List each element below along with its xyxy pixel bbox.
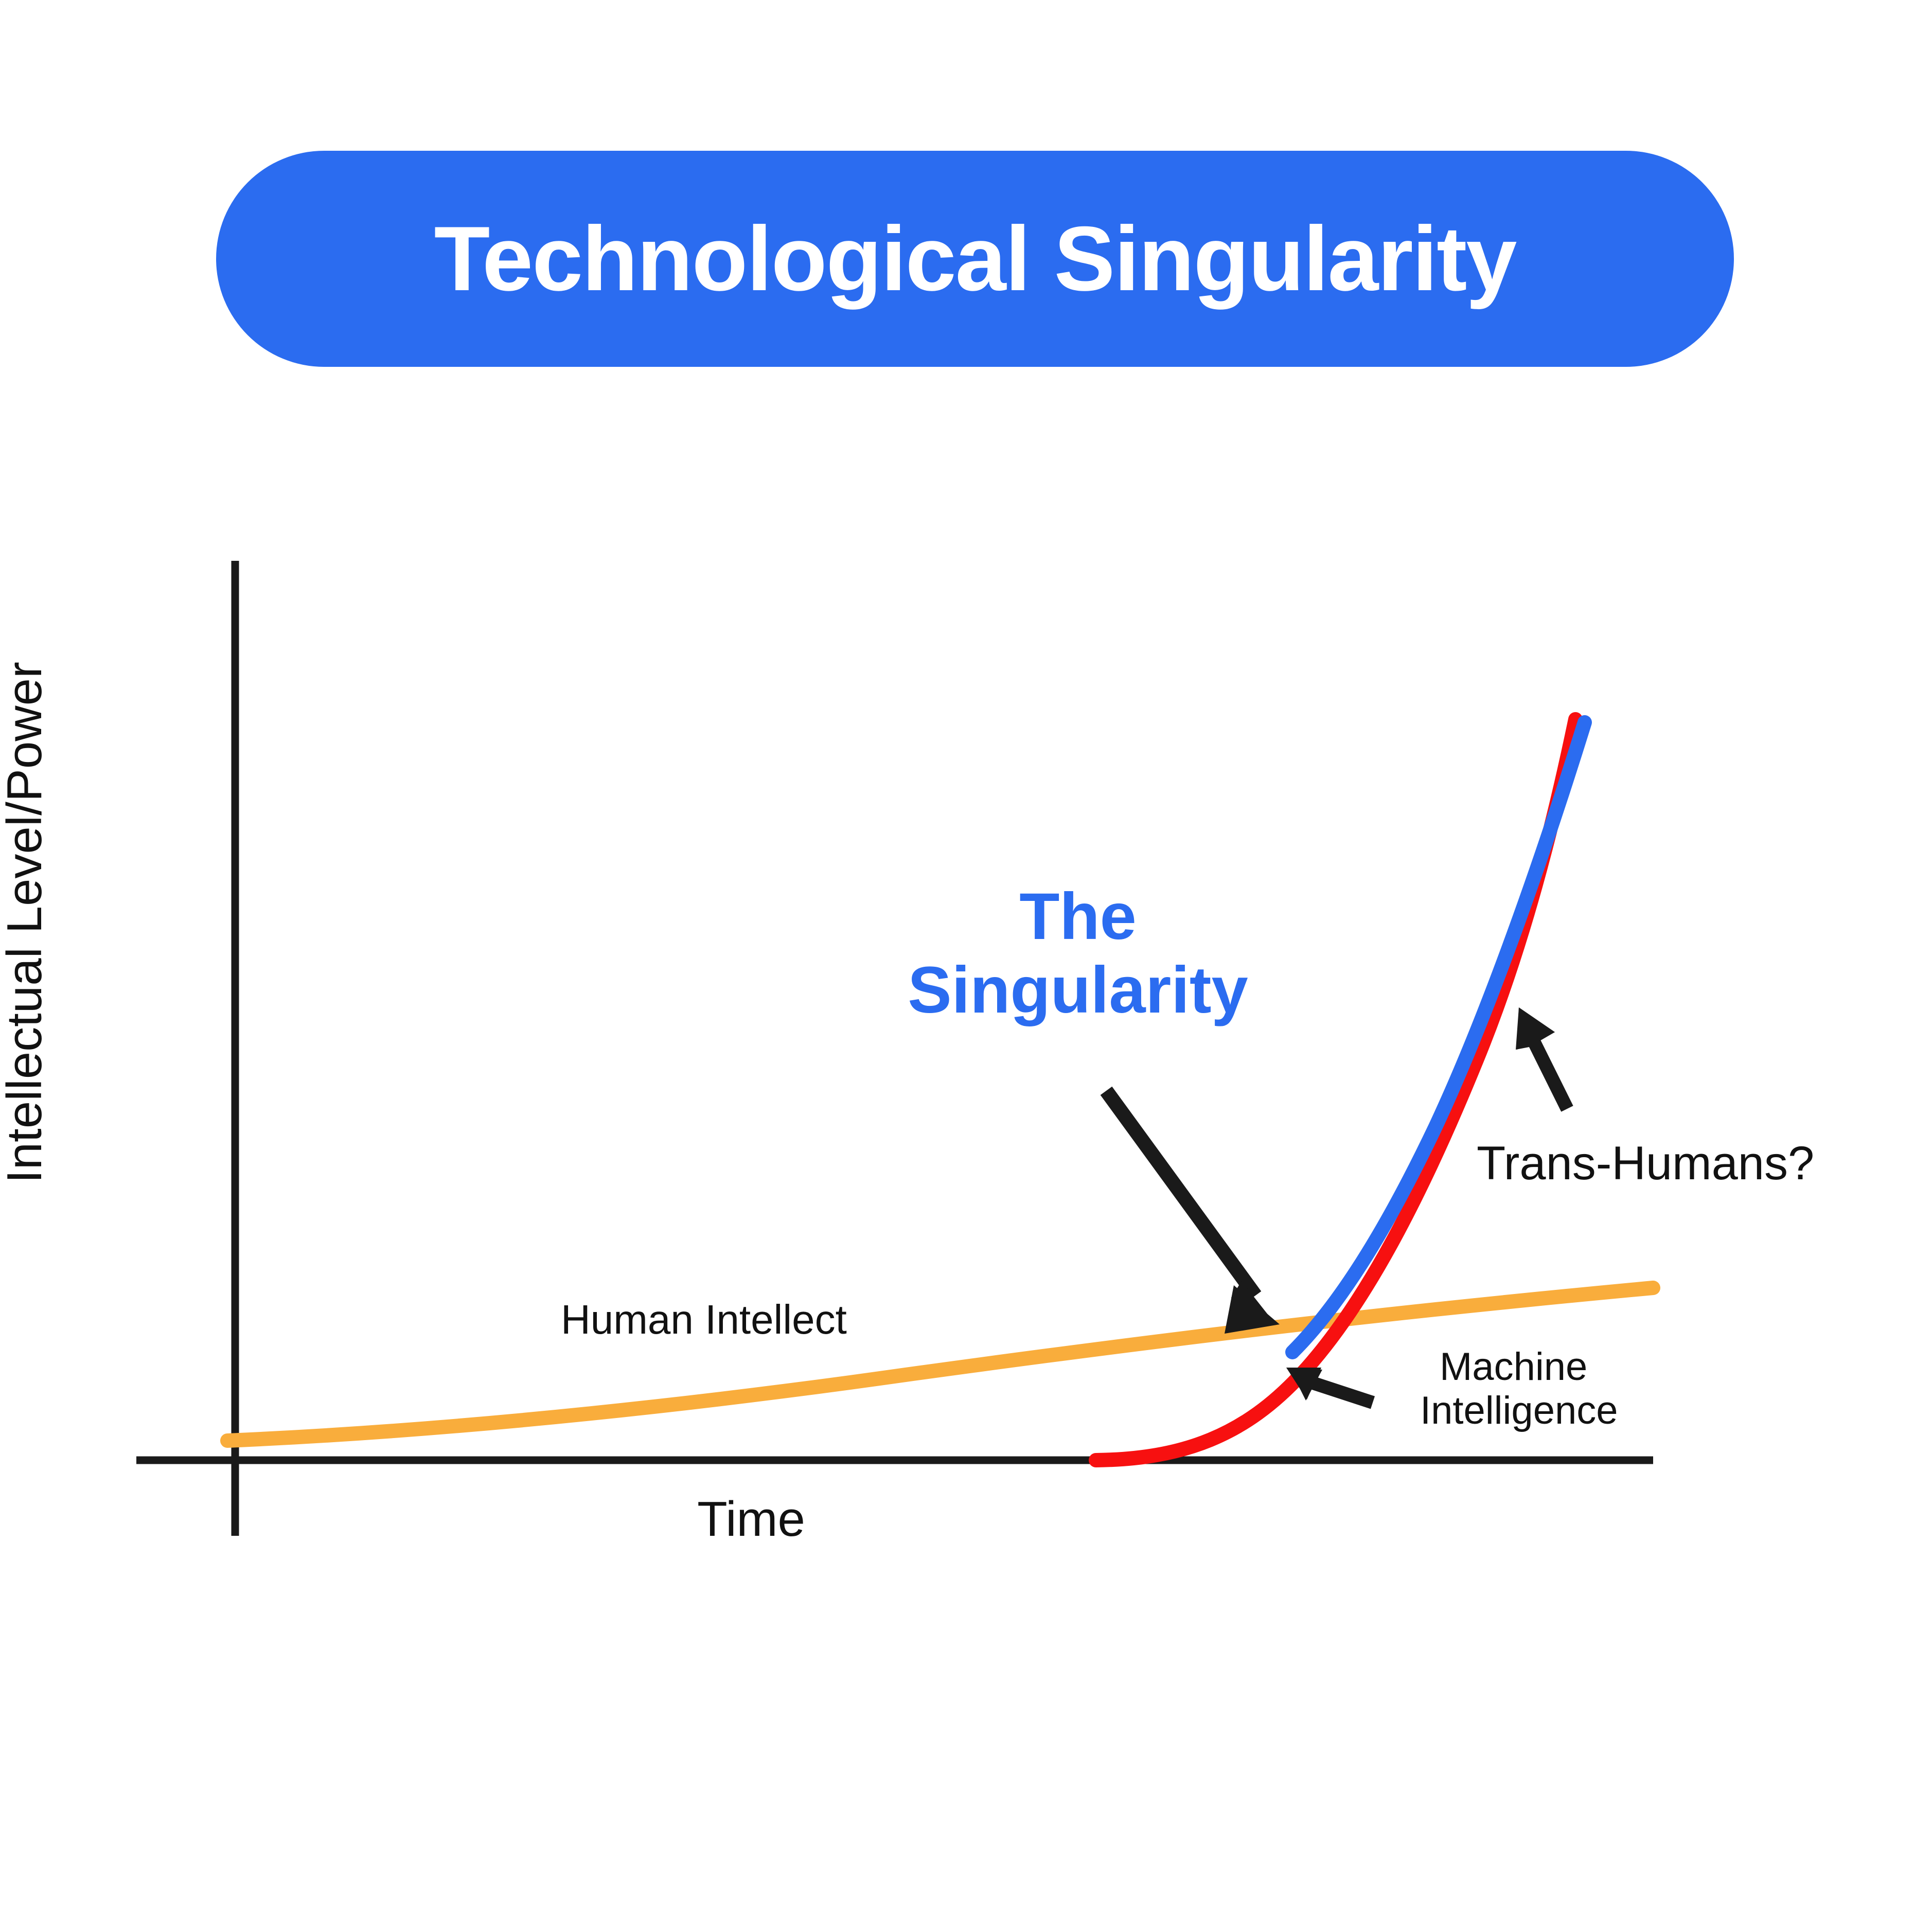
trans-humans-arrow xyxy=(1516,1007,1567,1109)
label-machine-intelligence-line2: Intelligence xyxy=(1420,1389,1739,1432)
label-the-singularity-line1: The xyxy=(875,880,1281,953)
label-machine-intelligence-line1: Machine xyxy=(1420,1345,1739,1389)
x-axis-label: Time xyxy=(592,1495,911,1544)
label-machine-intelligence: Machine Intelligence xyxy=(1420,1345,1739,1432)
label-the-singularity-line2: Singularity xyxy=(875,953,1281,1027)
y-axis-label: Intellectual Level/Power xyxy=(0,823,49,1183)
singularity-chart-page: Technological Singularity xyxy=(0,0,1932,1932)
singularity-arrow xyxy=(1106,1091,1280,1334)
label-trans-humans: Trans-Humans? xyxy=(1477,1137,1814,1190)
machine-intelligence-arrow xyxy=(1286,1368,1373,1403)
label-the-singularity: The Singularity xyxy=(875,880,1281,1027)
label-human-intellect: Human Intellect xyxy=(561,1297,847,1343)
